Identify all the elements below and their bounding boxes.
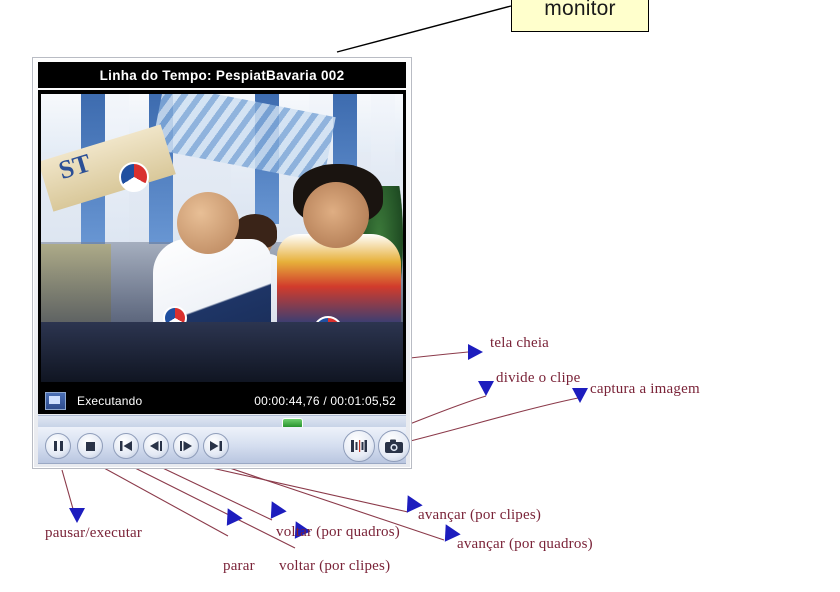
arrow-voltar-quadros [263,501,286,524]
annotation-voltar-clipes: voltar (por clipes) [279,558,390,575]
screenshot-canvas: monitor Linha do Tempo: PespiatBavaria 0… [0,0,840,592]
video-area: ST [38,90,406,388]
next-clip-button[interactable] [203,433,229,459]
playback-state: Executando [77,394,142,408]
annotation-parar: parar [223,558,255,575]
arrow-parar [219,508,242,531]
annotation-divide-clipe: divide o clipe [496,370,580,387]
annotation-captura-imagem: captura a imagem [590,381,700,398]
pause-play-button[interactable] [45,433,71,459]
fullscreen-icon[interactable] [45,392,66,410]
arrow-tela-cheia [468,344,483,360]
status-bar: Executando 00:00:44,76 / 00:01:05,52 [38,388,406,414]
annotation-avancar-clipes: avançar (por clipes) [418,507,541,524]
page-title: Linha do Tempo: PespiatBavaria 002 [100,68,345,83]
callout-label: monitor [544,0,615,21]
annotation-voltar-quadros: voltar (por quadros) [276,524,400,541]
previous-frame-button[interactable] [143,433,169,459]
video-still: ST [41,94,403,382]
arrow-captura-imagem [572,388,588,403]
callout-monitor: monitor [511,0,649,32]
arrow-pausar-executar [69,508,85,523]
stop-button[interactable] [77,433,103,459]
video-player-window: Linha do Tempo: PespiatBavaria 002 ST [32,57,412,469]
previous-clip-button[interactable] [113,433,139,459]
transport-control-bar [38,427,406,464]
next-frame-button[interactable] [173,433,199,459]
arrow-divide-clipe [478,381,494,396]
window-title-bar: Linha do Tempo: PespiatBavaria 002 [38,62,406,88]
time-display: 00:00:44,76 / 00:01:05,52 [254,394,396,408]
capture-image-button[interactable] [378,430,410,462]
split-clip-button[interactable] [343,430,375,462]
annotation-pausar-executar: pausar/executar [45,525,142,542]
annotation-tela-cheia: tela cheia [490,335,549,352]
annotation-avancar-quadros: avançar (por quadros) [457,536,593,553]
